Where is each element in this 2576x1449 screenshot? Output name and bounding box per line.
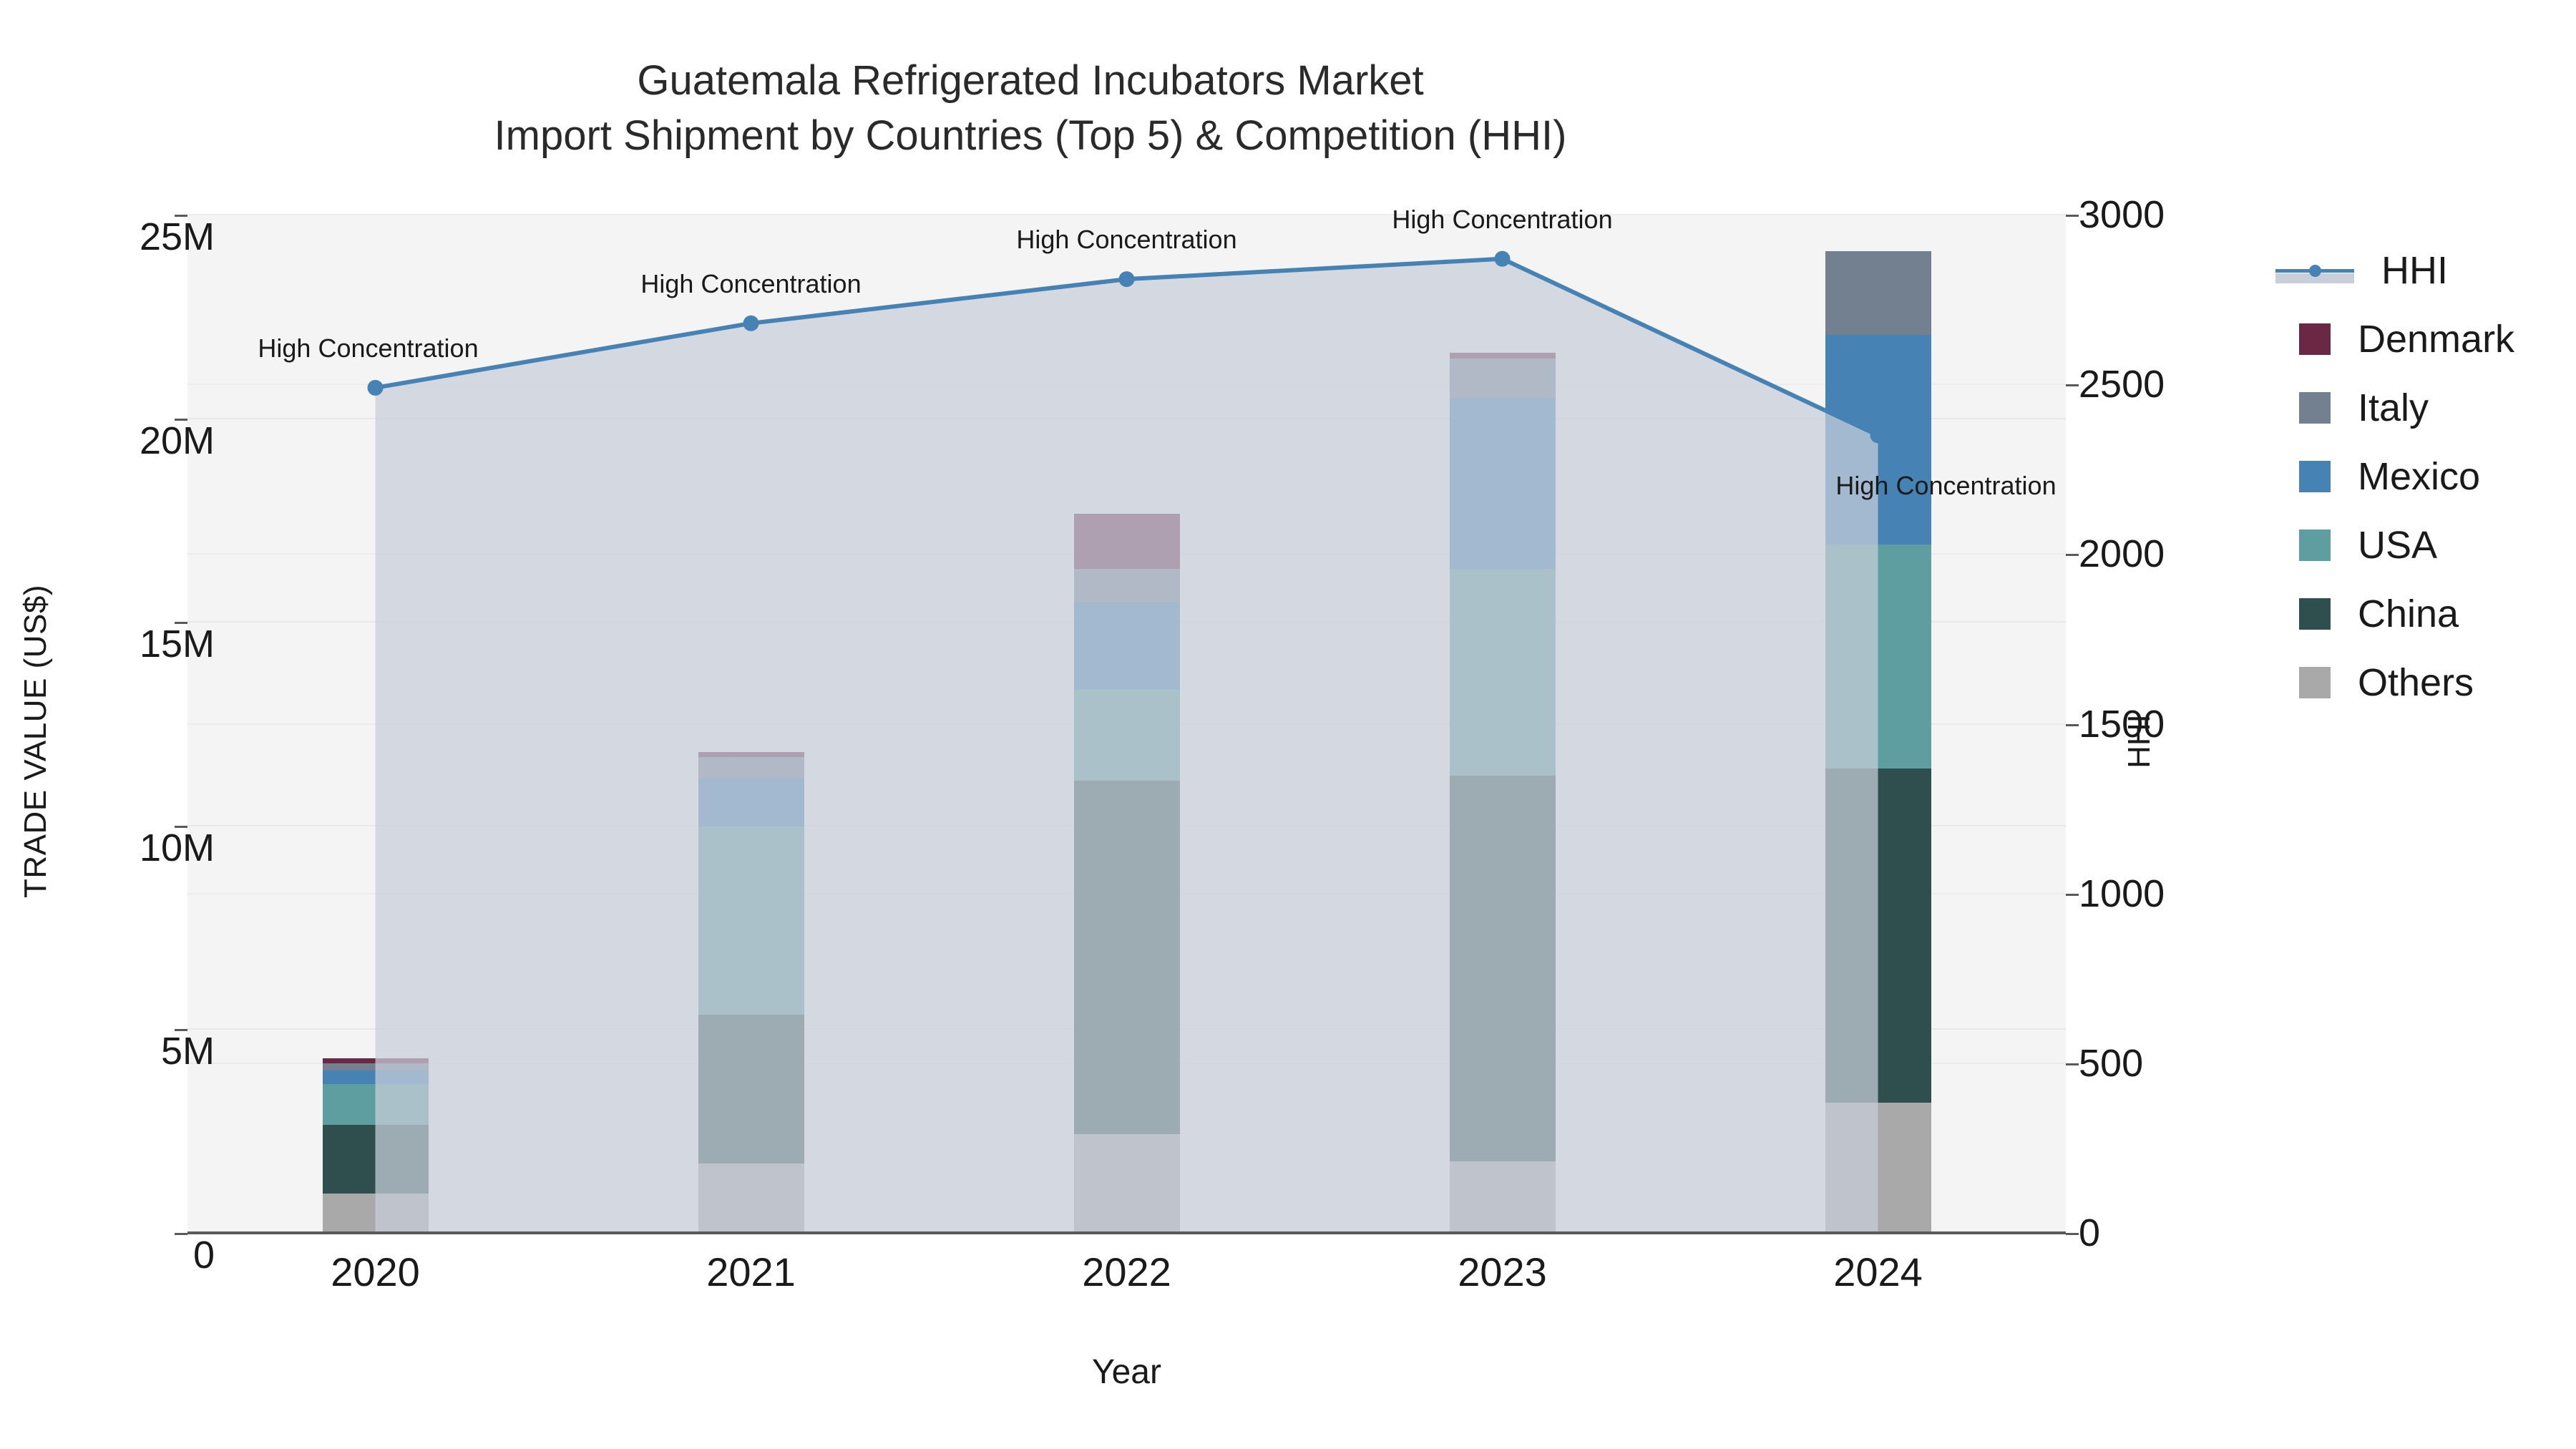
x-tick-2022: 2022 [984,1249,1270,1295]
y-tick-right-0: 0 [2079,1211,2100,1255]
y-tick-mark-right-4 [2066,554,2079,556]
y-tick-mark-right-3 [2066,724,2079,726]
y-tick-mark-left-0 [175,1233,187,1235]
legend-item-mexico[interactable]: Mexico [2275,442,2514,511]
y-tick-right-1: 500 [2079,1041,2143,1085]
chart-title-line1: Guatemala Refrigerated Incubators Market [0,54,2061,109]
legend-label-italy: Italy [2358,386,2429,430]
plot-area [187,215,2066,1233]
hhi-annotation-2021: High Concentration [640,269,861,299]
y-tick-mark-right-5 [2066,384,2079,386]
x-tick-2021: 2021 [608,1249,894,1295]
legend-item-usa[interactable]: USA [2275,511,2514,580]
legend-line-dot [2309,265,2321,277]
chart-legend[interactable]: HHIDenmarkItalyMexicoUSAChinaOthers [2275,236,2514,717]
y-axis-left-title: TRADE VALUE (US$) [18,348,54,1135]
legend-item-italy[interactable]: Italy [2275,374,2514,442]
y-tick-mark-left-1 [175,1029,187,1031]
x-axis-title: Year [187,1352,2066,1392]
y-tick-left-label-0: 0 [193,1233,215,1277]
y-tick-left-label-3: 15M [140,622,215,666]
hhi-point-2024[interactable] [1870,427,1886,443]
legend-label-others: Others [2358,660,2474,705]
y-tick-mark-left-2 [175,826,187,828]
legend-item-denmark[interactable]: Denmark [2275,305,2514,374]
chart-title: Guatemala Refrigerated Incubators Market… [0,54,2061,163]
chart-canvas: Guatemala Refrigerated Incubators Market… [0,0,2576,1449]
y-tick-mark-right-2 [2066,894,2079,896]
legend-line-marker [2275,255,2354,286]
legend-item-others[interactable]: Others [2275,648,2514,717]
y-tick-mark-right-1 [2066,1063,2079,1065]
y-tick-left-label-2: 10M [140,826,215,870]
hhi-annotation-2022: High Concentration [1016,225,1236,255]
y-tick-mark-left-4 [175,419,187,421]
y-tick-left-label-5: 25M [140,215,215,259]
hhi-annotation-2023: High Concentration [1392,205,1612,235]
hhi-series [187,215,2066,1233]
y-tick-mark-right-6 [2066,215,2079,217]
y-tick-left-label-4: 20M [140,419,215,463]
legend-swatch-others [2299,667,2331,698]
y-axis-right-title: HHI [2122,527,2157,956]
hhi-point-2023[interactable] [1495,251,1511,267]
hhi-point-2020[interactable] [368,380,384,396]
y-tick-right-5: 2500 [2079,362,2165,406]
y-tick-mark-right-0 [2066,1233,2079,1235]
y-tick-mark-left-3 [175,622,187,624]
x-tick-2020: 2020 [233,1249,519,1295]
legend-swatch-denmark [2299,323,2331,355]
legend-item-hhi[interactable]: HHI [2275,236,2514,305]
hhi-area-fill [376,259,1878,1233]
hhi-point-2021[interactable] [743,316,759,331]
x-tick-2024: 2024 [1735,1249,2021,1295]
legend-swatch-china [2299,598,2331,630]
legend-item-china[interactable]: China [2275,580,2514,648]
legend-swatch-italy [2299,392,2331,424]
legend-label-usa: USA [2358,523,2437,567]
hhi-annotation-2024: High Concentration [1835,471,2056,501]
y-tick-mark-left-5 [175,215,187,217]
legend-swatch-usa [2299,530,2331,561]
legend-label-hhi: HHI [2381,248,2448,293]
legend-label-mexico: Mexico [2358,454,2480,499]
x-axis-line [187,1231,2066,1234]
hhi-annotation-2020: High Concentration [258,333,478,364]
y-tick-left-label-1: 5M [161,1029,215,1073]
legend-label-china: China [2358,592,2459,636]
hhi-point-2022[interactable] [1119,271,1135,287]
y-tick-right-6: 3000 [2079,192,2165,237]
legend-swatch-mexico [2299,461,2331,492]
x-tick-2023: 2023 [1360,1249,1646,1295]
chart-title-line2: Import Shipment by Countries (Top 5) & C… [0,109,2061,164]
legend-label-denmark: Denmark [2358,317,2514,361]
